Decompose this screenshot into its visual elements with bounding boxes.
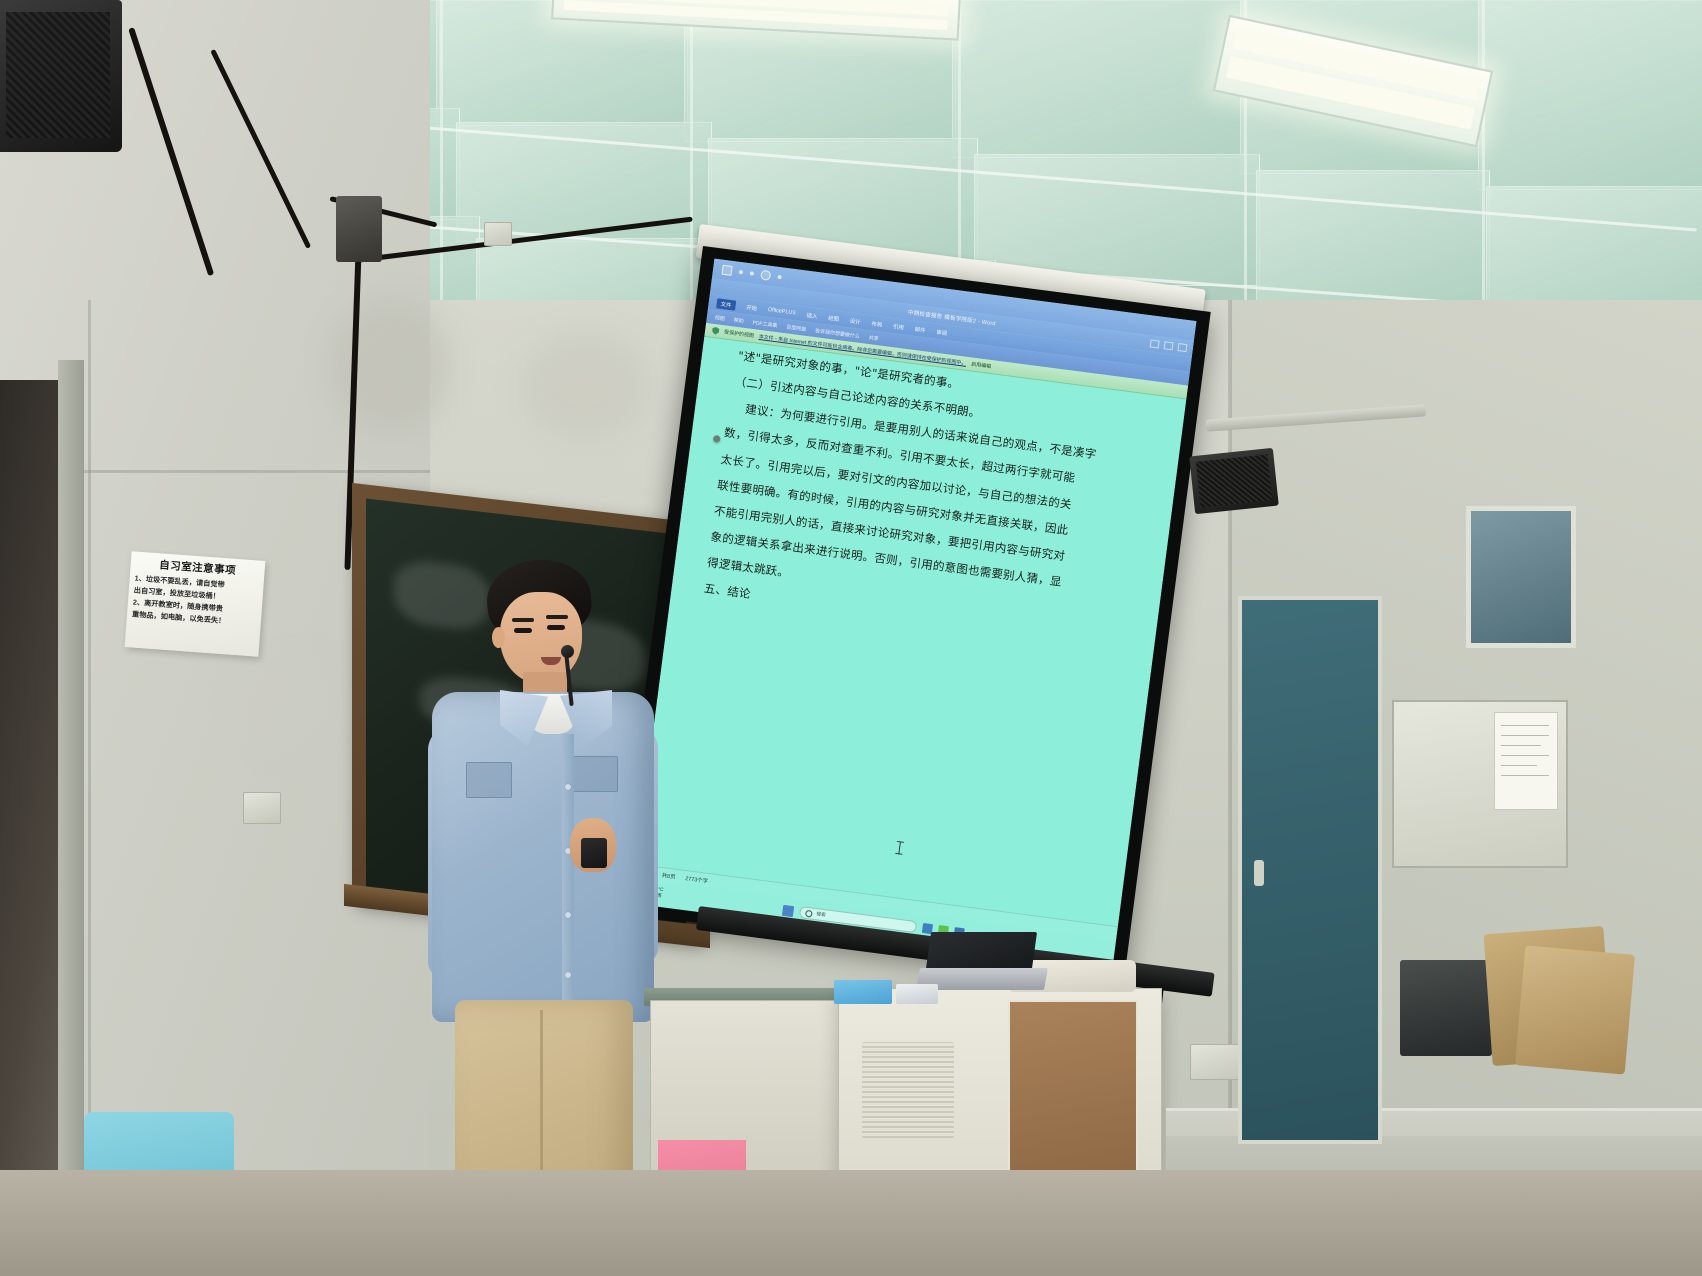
classroom-scene: 自习室注意事项 1、垃圾不要乱丢，请自觉带 出自习室，投放至垃圾桶！ 2、离开教… (0, 0, 1702, 1276)
window-controls[interactable] (1150, 339, 1188, 352)
presenter-jacket-placket (562, 734, 574, 1022)
tab-review[interactable]: 审阅 (936, 327, 948, 336)
redo-icon[interactable] (750, 271, 754, 275)
touch-mode-icon[interactable] (777, 275, 781, 279)
tab-file[interactable]: 文件 (716, 298, 736, 310)
tab-references[interactable]: 引用 (893, 322, 905, 331)
tab-baidu-netdisk[interactable]: 百度网盘 (786, 323, 807, 333)
stacked-chairs-2 (1515, 945, 1635, 1074)
waste-bin (1400, 960, 1492, 1056)
enable-editing-button[interactable]: 启用编辑 (971, 361, 992, 371)
autosave-icon[interactable] (760, 270, 771, 281)
tab-mailings[interactable]: 邮件 (914, 324, 926, 333)
presenter-ear (492, 627, 505, 648)
tab-pdf-tools[interactable]: PDF工具集 (752, 319, 778, 329)
tab-view[interactable]: 视图 (714, 314, 725, 322)
search-icon (805, 909, 813, 917)
minimize-icon[interactable] (1150, 339, 1160, 348)
tab-insert[interactable]: 插入 (806, 310, 818, 319)
study-room-notice-poster: 自习室注意事项 1、垃圾不要乱丢，请自觉带 出自习室，投放至垃圾桶！ 2、离开教… (125, 551, 266, 657)
undo-icon[interactable] (739, 270, 743, 274)
door-handle[interactable] (1254, 860, 1264, 886)
document-canvas[interactable]: "述"是研究对象的事，"论"是研究者的事。 （二）引述内容与自己论述内容的关系不… (636, 337, 1186, 926)
word-window: 中期检查报告 模板学院版2 - Word 文件 开始 OfficePLUS 插入… (631, 259, 1197, 966)
tab-draw[interactable]: 绘图 (828, 313, 840, 322)
protected-view-label: 受保护的视图 (724, 328, 755, 339)
save-icon[interactable] (721, 265, 732, 276)
search-placeholder: 搜索 (816, 911, 826, 918)
speaker-right-grill (1196, 454, 1272, 507)
share-button[interactable]: 共享 (868, 334, 879, 342)
blue-box-item (834, 980, 892, 1004)
floor (0, 1170, 1702, 1276)
projected-desktop: 中期检查报告 模板学院版2 - Word 文件 开始 OfficePLUS 插入… (631, 259, 1197, 966)
bullet-dot-icon (713, 435, 721, 443)
cabinet-notice-paper (1494, 712, 1558, 810)
speaker-top-left (0, 0, 122, 152)
left-door-frame (58, 360, 84, 1276)
lectern-speaker-grill (862, 1042, 954, 1138)
windows-start-icon[interactable] (782, 904, 794, 916)
close-icon[interactable] (1177, 343, 1187, 352)
tab-design[interactable]: 设计 (849, 316, 861, 325)
tab-home[interactable]: 开始 (746, 303, 758, 312)
wall-bracket (336, 196, 382, 262)
wall-socket-upper (484, 222, 512, 246)
tab-layout[interactable]: 布局 (871, 319, 883, 328)
presenter-denim-jacket (432, 692, 654, 1022)
restore-icon[interactable] (1164, 341, 1174, 350)
tab-officeplus[interactable]: OfficePLUS (768, 306, 797, 316)
tab-help[interactable]: 帮助 (733, 316, 744, 324)
lectern-wood-panel (1008, 1000, 1138, 1194)
word-count: 2773个字 (685, 874, 709, 885)
shield-icon (712, 326, 720, 335)
handheld-device (581, 838, 607, 868)
white-box-item (896, 984, 938, 1004)
wall-socket-lower (243, 792, 281, 824)
right-window (1466, 506, 1576, 648)
microphone-head (561, 645, 574, 658)
projector-screen: 中期检查报告 模板学院版2 - Word 文件 开始 OfficePLUS 插入… (616, 246, 1210, 978)
text-cursor-icon (898, 841, 901, 854)
